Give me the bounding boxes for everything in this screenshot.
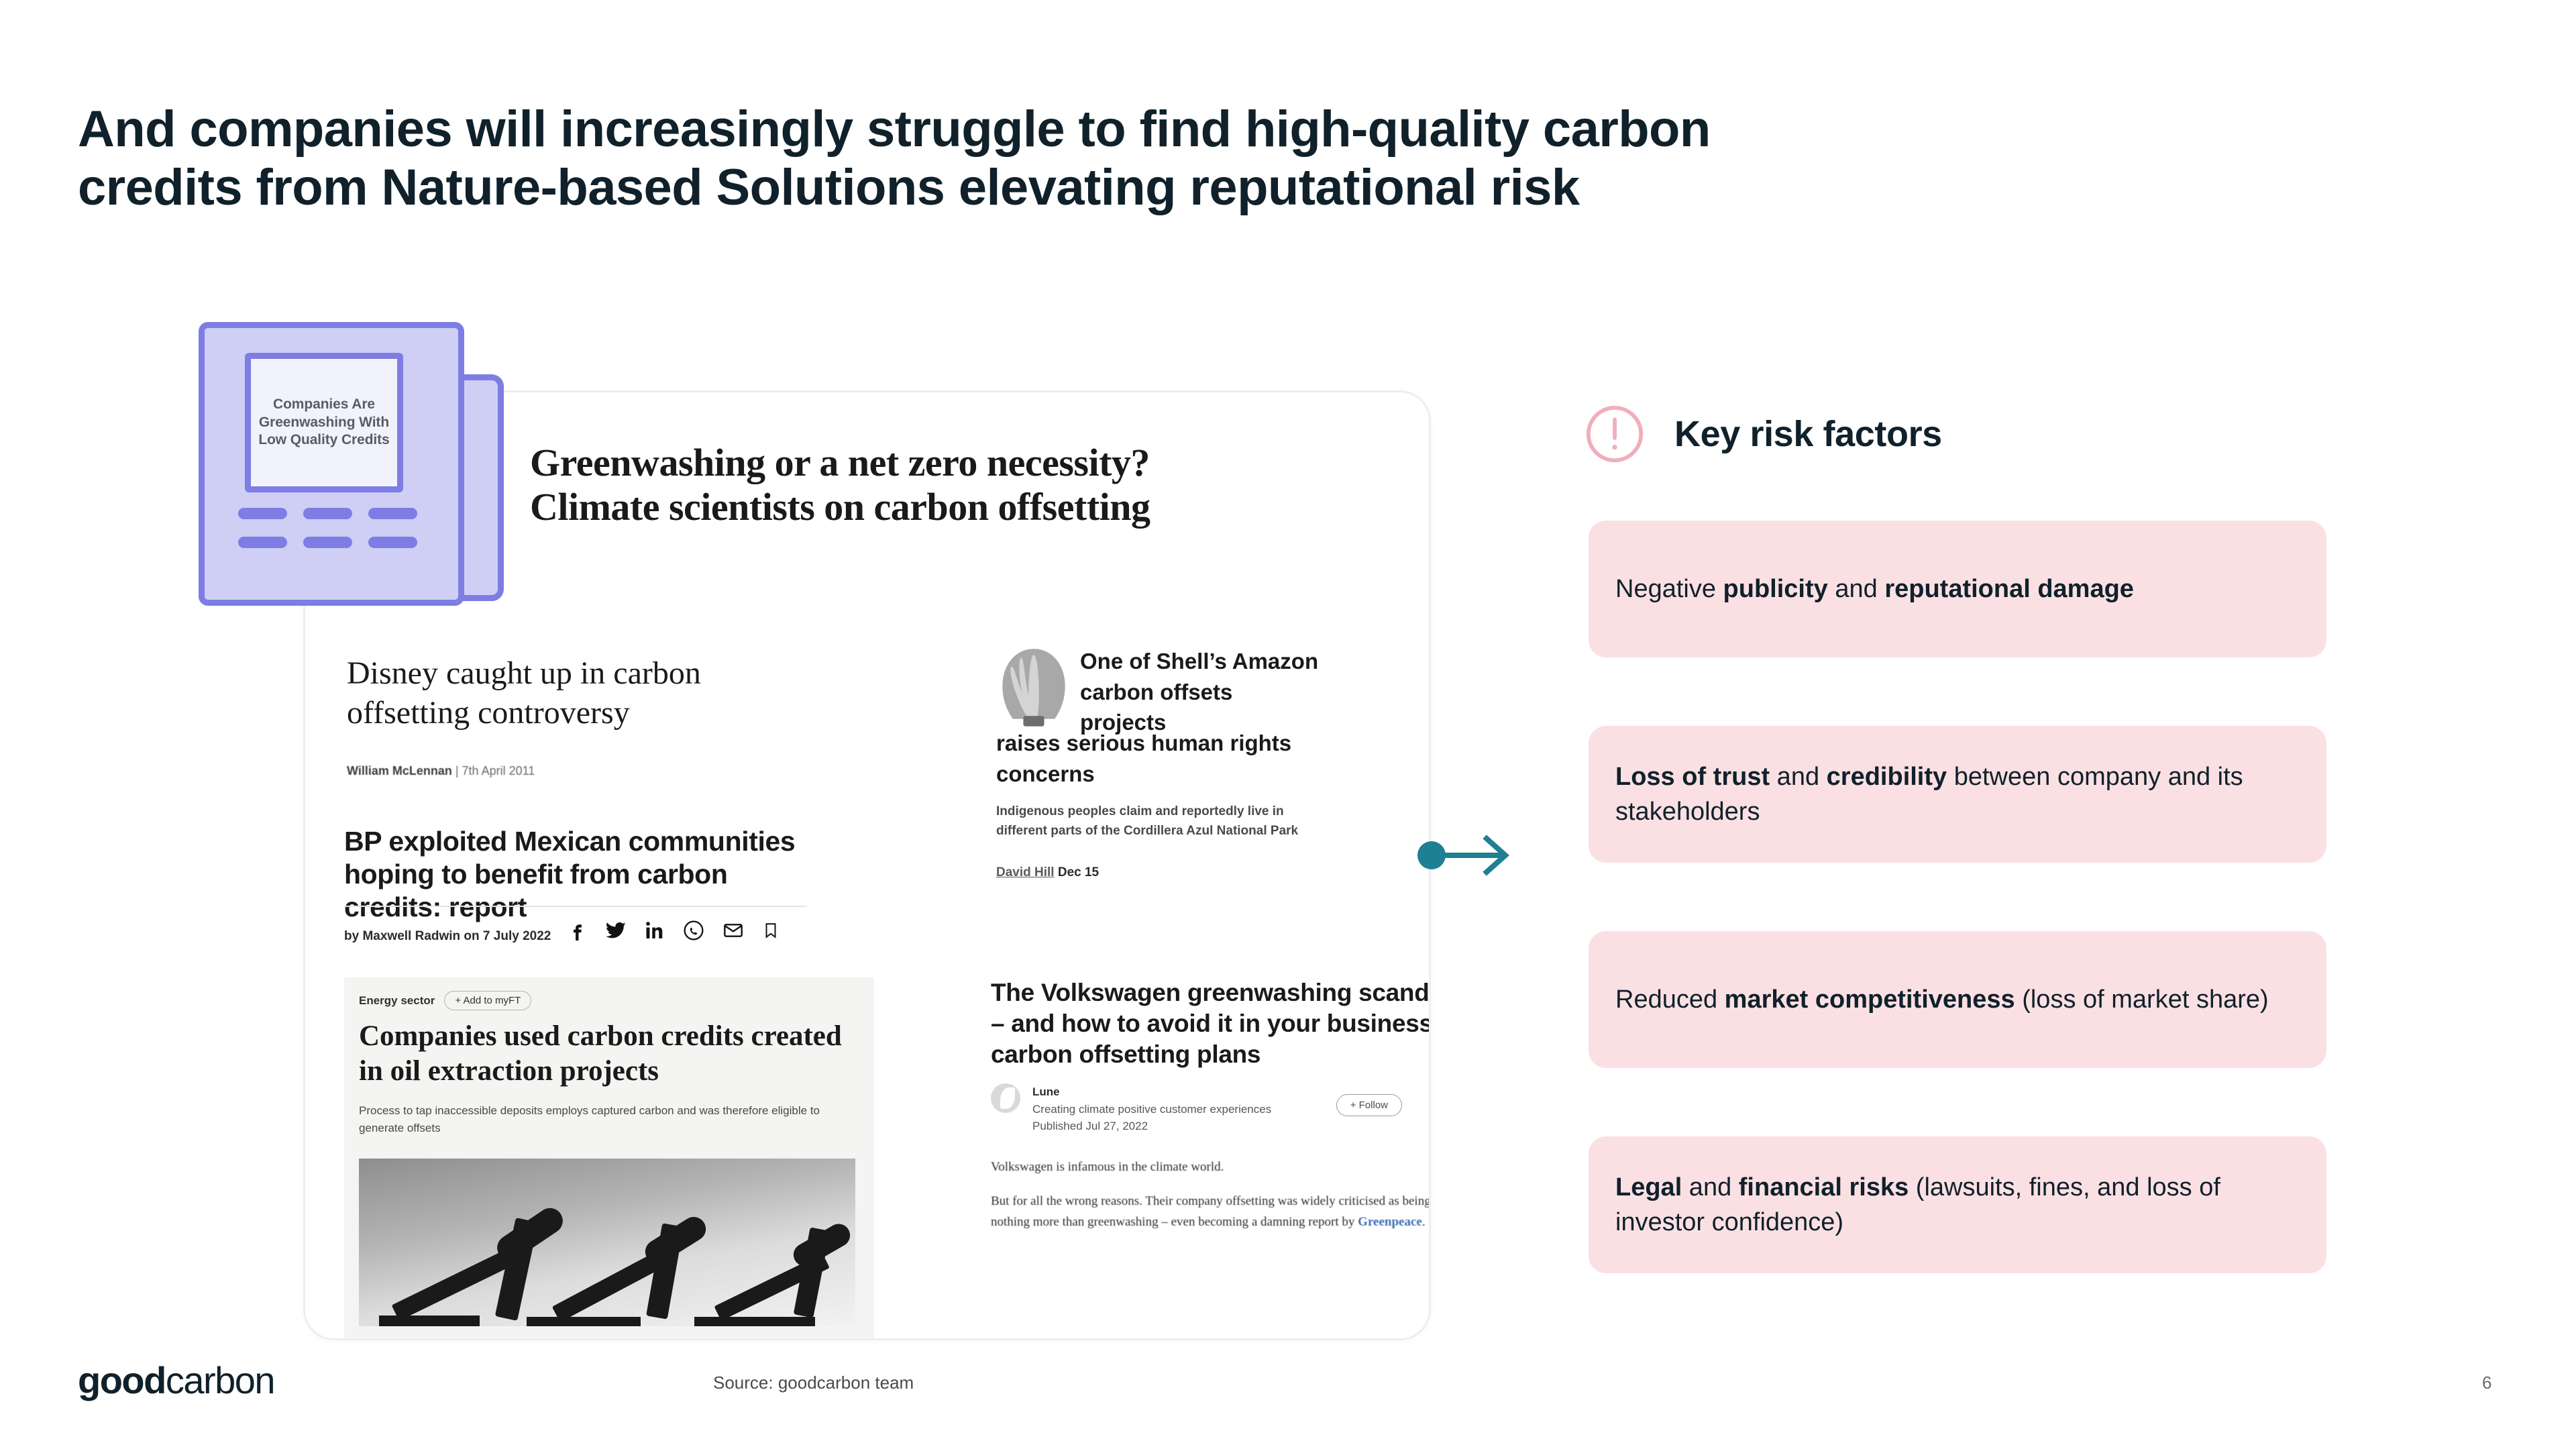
- article-headline-volkswagen: The Volkswagen greenwashing scandal – an…: [991, 977, 1431, 1070]
- arrow-right-icon: [1417, 832, 1517, 879]
- shell-logo-icon: [996, 647, 1071, 728]
- goodcarbon-logo: goodcarbon: [78, 1362, 274, 1399]
- newspaper-icon: Companies Are Greenwashing With Low Qual…: [199, 322, 504, 627]
- article-byline-bp: by Maxwell Radwin on 7 July 2022: [344, 929, 551, 944]
- risk-panel-title: Key risk factors: [1674, 413, 1942, 455]
- vw-body-after-link: .: [1422, 1215, 1426, 1229]
- vw-author-meta: Lune Creating climate positive customer …: [1032, 1083, 1271, 1135]
- risk-card: Reduced market competitiveness (loss of …: [1589, 931, 2326, 1068]
- ft-photo-pumpjacks: [359, 1159, 855, 1326]
- page-title-line-2: credits from Nature-based Solutions elev…: [78, 159, 2131, 217]
- risk-card: Legal and financial risks (lawsuits, fin…: [1589, 1136, 2326, 1273]
- vw-author-block: Lune Creating climate positive customer …: [991, 1083, 1271, 1135]
- newspaper-text-lines: [238, 508, 418, 566]
- bp-divider: [344, 906, 807, 907]
- risk-text-middle: and: [1770, 763, 1827, 791]
- shell-author[interactable]: David Hill: [996, 865, 1055, 879]
- vw-author-tagline: Creating climate positive customer exper…: [1032, 1101, 1271, 1118]
- alert-circle-icon: [1583, 402, 1646, 466]
- vw-follow-button[interactable]: + Follow: [1336, 1094, 1402, 1116]
- risk-text-suffix: (loss of market share): [2015, 985, 2269, 1014]
- vw-body-text: Volkswagen is infamous in the climate wo…: [991, 1157, 1431, 1246]
- risk-text-bold-1: publicity: [1723, 575, 1828, 603]
- vw-body-paragraph-1: Volkswagen is infamous in the climate wo…: [991, 1157, 1431, 1178]
- disney-author: William McLennan: [347, 764, 452, 777]
- vw-published-date: Published Jul 27, 2022: [1032, 1118, 1271, 1135]
- vw-author-name: Lune: [1032, 1083, 1271, 1101]
- article-byline-shell: David Hill Dec 15: [996, 865, 1099, 880]
- risk-text-bold-1: market competitiveness: [1725, 985, 2015, 1014]
- linkedin-icon[interactable]: [645, 920, 665, 941]
- newspaper-headline-text: Companies Are Greenwashing With Low Qual…: [251, 396, 397, 450]
- article-headline-ft: Companies used carbon credits created in…: [359, 1019, 849, 1088]
- article-byline-disney: William McLennan | 7th April 2011: [347, 764, 776, 778]
- risk-text-bold-1: Legal: [1615, 1173, 1682, 1201]
- ft-add-to-myft-button[interactable]: + Add to myFT: [444, 991, 531, 1010]
- ft-sector-label: Energy sector: [359, 994, 435, 1008]
- ft-tag-row: Energy sector + Add to myFT: [359, 991, 531, 1010]
- newspaper-headline-box: Companies Are Greenwashing With Low Qual…: [245, 353, 403, 492]
- article-headline-disney: Disney caught up in carbon offsetting co…: [347, 654, 776, 733]
- risk-text-bold-2: reputational damage: [1884, 575, 2134, 603]
- email-icon[interactable]: [722, 920, 744, 941]
- risk-text-prefix: Negative: [1615, 575, 1723, 603]
- article-standfirst-shell: Indigenous peoples claim and reportedly …: [996, 802, 1305, 841]
- article-headline-shell-part2: raises serious human rights concerns: [996, 728, 1345, 789]
- page-number: 6: [2482, 1373, 2491, 1393]
- disney-date: 7th April 2011: [462, 764, 535, 777]
- twitter-icon[interactable]: [605, 920, 627, 941]
- risk-text-bold-2: credibility: [1827, 763, 1947, 791]
- article-headline-shell-part1: One of Shell’s Amazon carbon offsets pro…: [1080, 646, 1322, 738]
- shell-date: Dec 15: [1058, 865, 1099, 879]
- greenpeace-link[interactable]: Greenpeace: [1358, 1215, 1422, 1229]
- collage-main-headline: Greenwashing or a net zero necessity? Cl…: [530, 441, 1234, 529]
- risk-card: Loss of trust and credibility between co…: [1589, 726, 2326, 863]
- article-card-ft: Energy sector + Add to myFT Companies us…: [344, 977, 874, 1340]
- risk-text-middle: and: [1828, 575, 1885, 603]
- risk-text-bold-2: financial risks: [1739, 1173, 1909, 1201]
- risk-text-middle: and: [1682, 1173, 1739, 1201]
- risk-panel-header: Key risk factors: [1583, 402, 1942, 466]
- avatar: [991, 1083, 1020, 1113]
- risk-card: Negative publicity and reputational dama…: [1589, 521, 2326, 657]
- article-standfirst-ft: Process to tap inaccessible deposits emp…: [359, 1102, 855, 1136]
- risk-text-prefix: Reduced: [1615, 985, 1725, 1014]
- risk-text-bold-1: Loss of trust: [1615, 763, 1770, 791]
- vw-body-paragraph-2: But for all the wrong reasons. Their com…: [991, 1191, 1431, 1233]
- bp-share-row: [567, 920, 780, 941]
- source-note: Source: goodcarbon team: [713, 1373, 914, 1393]
- article-headline-bp: BP exploited Mexican communities hoping …: [344, 825, 814, 924]
- whatsapp-icon[interactable]: [683, 920, 704, 941]
- newspaper-front-page: Companies Are Greenwashing With Low Qual…: [199, 322, 464, 606]
- logo-carbon: carbon: [166, 1359, 274, 1401]
- facebook-icon[interactable]: [567, 920, 587, 941]
- page-title-line-1: And companies will increasingly struggle…: [78, 101, 2131, 159]
- logo-good: good: [78, 1359, 166, 1401]
- page-title: And companies will increasingly struggle…: [78, 101, 2131, 217]
- bookmark-icon[interactable]: [762, 920, 780, 941]
